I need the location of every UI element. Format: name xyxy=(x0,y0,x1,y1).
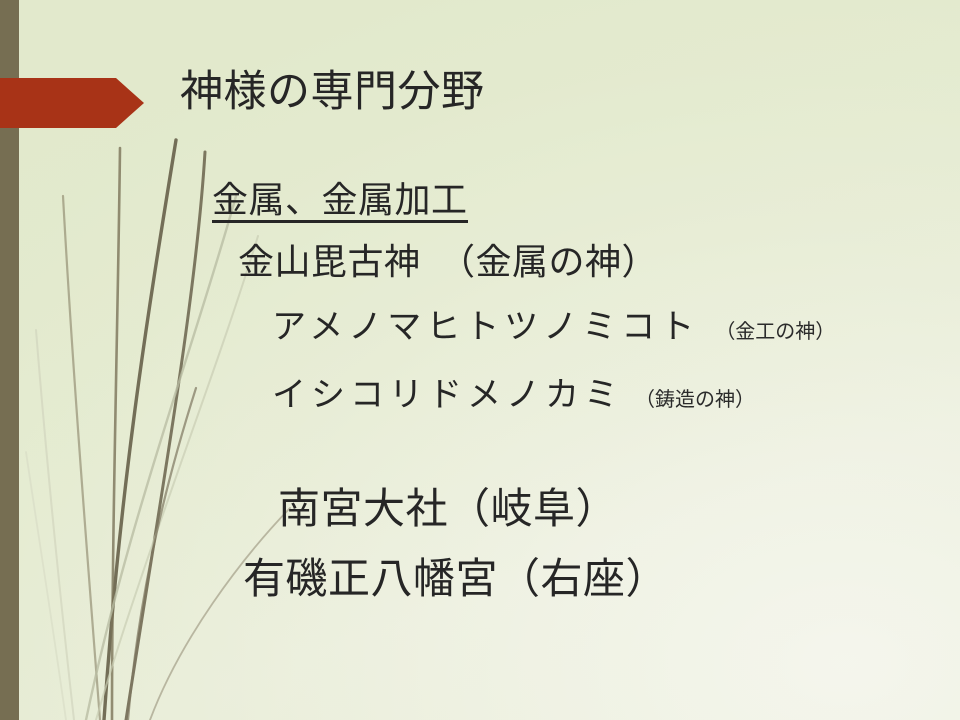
deity-row-3: イシコリドメノカミ（鋳造の神） xyxy=(0,378,960,446)
deity-name-3: イシコリドメノカミ xyxy=(272,376,623,414)
shrine-name-2: 有磯正八幡宮（右座） xyxy=(243,555,668,602)
body-heading-row: 金属、金属加工 xyxy=(0,182,960,244)
body-heading: 金属、金属加工 xyxy=(212,182,468,223)
slide-body: 金属、金属加工 金山毘古神 （金属の神） アメノマヒトツノミコト（金工の神） イ… xyxy=(0,182,960,628)
shrine-name-1: 南宮大社（岐阜） xyxy=(278,485,618,532)
body-spacer xyxy=(0,446,960,488)
shrine-row-2: 有磯正八幡宮（右座） xyxy=(0,558,960,628)
shrine-row-1: 南宮大社（岐阜） xyxy=(0,488,960,558)
title-arrow-banner xyxy=(0,78,144,128)
deity-note-2: （金工の神） xyxy=(715,321,835,343)
deity-name-2: アメノマヒトツノミコト xyxy=(272,308,699,346)
presentation-slide: 神様の専門分野 金属、金属加工 金山毘古神 （金属の神） アメノマヒトツノミコト… xyxy=(0,0,960,720)
deity-row-2: アメノマヒトツノミコト（金工の神） xyxy=(0,310,960,378)
deity-note-3: （鋳造の神） xyxy=(635,389,755,411)
deity-row-1: 金山毘古神 （金属の神） xyxy=(0,244,960,310)
slide-title: 神様の専門分野 xyxy=(180,68,485,116)
deity-name-1: 金山毘古神 （金属の神） xyxy=(238,241,658,282)
